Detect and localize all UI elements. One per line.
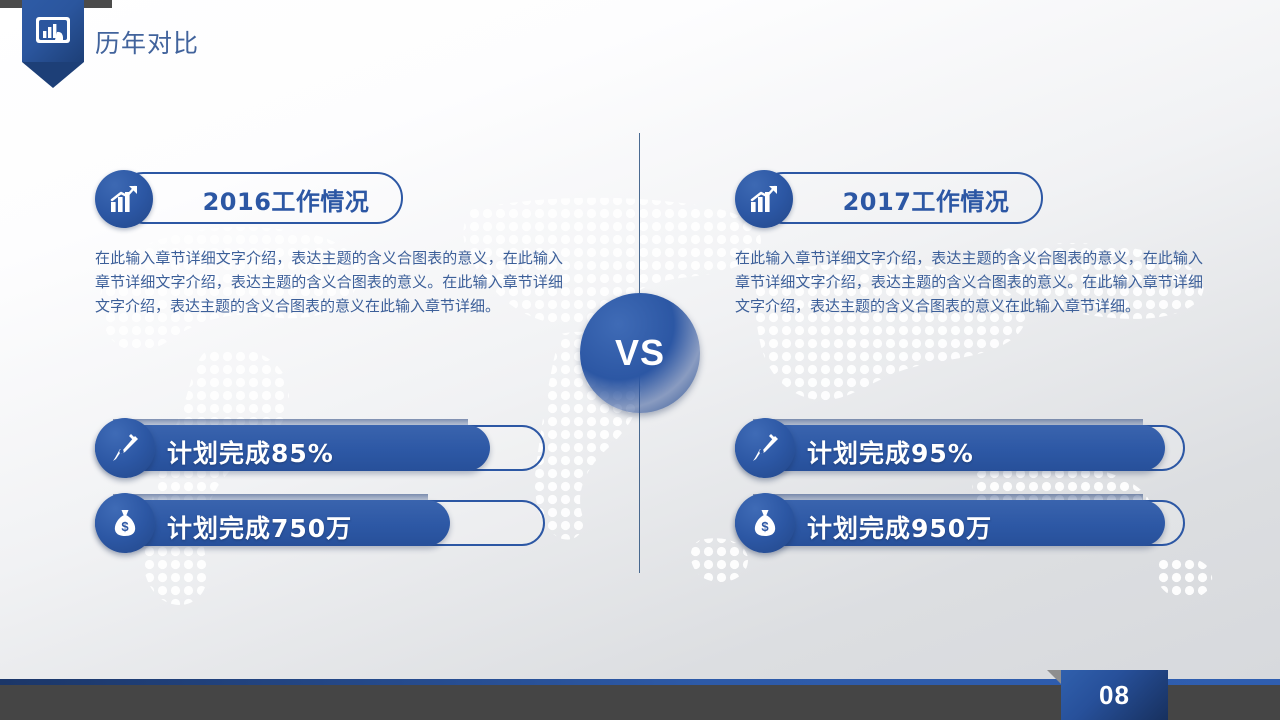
progress-bar-label: 计划完成85% <box>167 434 334 470</box>
section-heading-label: 2016工作情况 <box>177 182 395 217</box>
progress-bar-label: 计划完成750万 <box>167 509 352 545</box>
progress-bar-plan-percent-2017[interactable]: 计划完成95% <box>735 418 1195 478</box>
section-heading-2016[interactable]: 2016工作情况 <box>95 170 405 228</box>
svg-text:$: $ <box>121 519 129 534</box>
slide-root: 历年对比 VS 2016工作情况 在此输入章节详细文字介绍，表达主题的含义合图表… <box>0 0 1280 720</box>
column-2016: 2016工作情况 在此输入章节详细文字介绍，表达主题的含义合图表的意义，在此输入… <box>90 0 570 720</box>
progress-bar-plan-percent-2016[interactable]: 计划完成85% <box>95 418 555 478</box>
header-tag-banner <box>22 0 84 62</box>
svg-text:$: $ <box>761 519 769 534</box>
bar-chart-arrow-icon <box>95 170 153 228</box>
pen-nib-icon <box>735 418 795 478</box>
progress-bar-plan-amount-2017[interactable]: $ 计划完成950万 <box>735 493 1195 553</box>
bar-chart-arrow-icon <box>735 170 793 228</box>
section-body-2017: 在此输入章节详细文字介绍，表达主题的含义合图表的意义，在此输入章节详细文字介绍，… <box>735 246 1203 318</box>
tablet-chart-icon <box>35 16 71 46</box>
progress-bar-plan-amount-2016[interactable]: $ 计划完成750万 <box>95 493 555 553</box>
section-body-2016: 在此输入章节详细文字介绍，表达主题的含义合图表的意义，在此输入章节详细文字介绍，… <box>95 246 563 318</box>
column-2017: 2017工作情况 在此输入章节详细文字介绍，表达主题的含义合图表的意义，在此输入… <box>730 0 1210 720</box>
pen-nib-icon <box>95 418 155 478</box>
section-heading-2017[interactable]: 2017工作情况 <box>735 170 1045 228</box>
progress-bar-label: 计划完成95% <box>807 434 974 470</box>
vs-badge: VS <box>580 293 700 413</box>
money-bag-icon: $ <box>95 493 155 553</box>
page-number-badge: 08 <box>1061 670 1168 720</box>
money-bag-icon: $ <box>735 493 795 553</box>
section-heading-label: 2017工作情况 <box>817 182 1035 217</box>
progress-bar-label: 计划完成950万 <box>807 509 992 545</box>
